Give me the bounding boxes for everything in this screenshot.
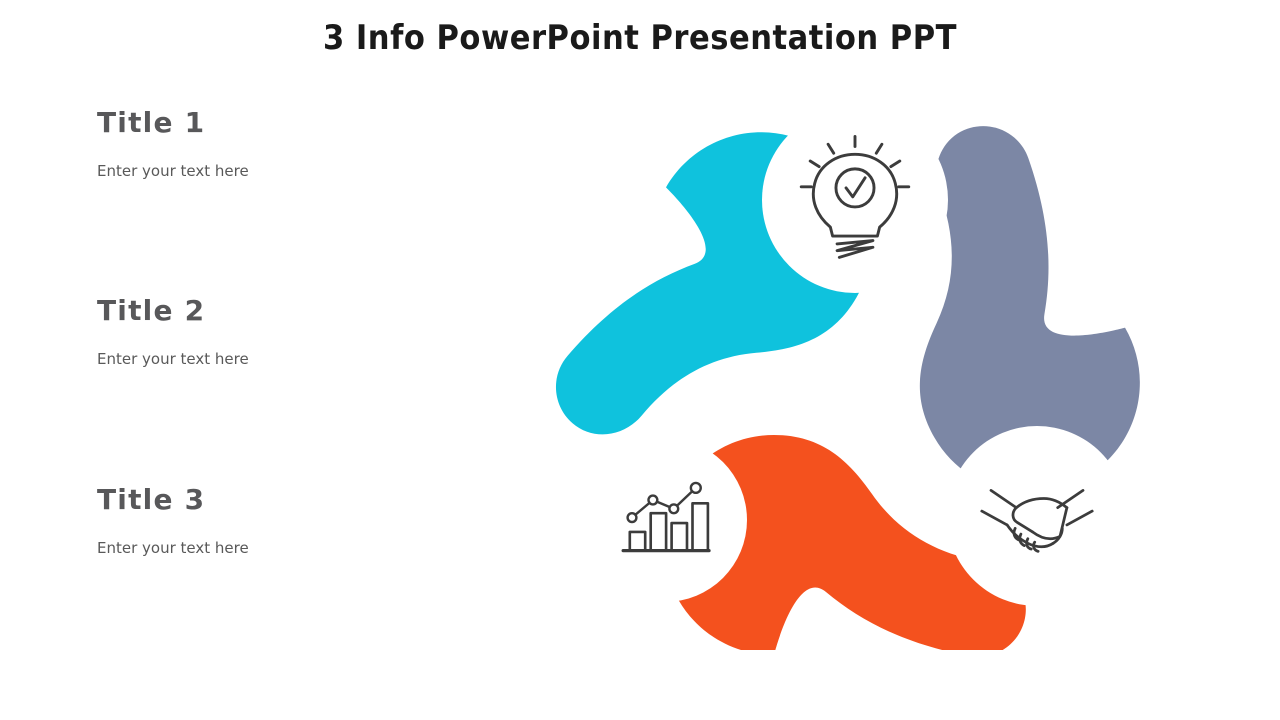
info-block-1-body: Enter your text here	[97, 139, 249, 180]
info-block-2: Title 2 Enter your text here	[97, 296, 249, 368]
info-block-2-title: Title 2	[97, 296, 249, 327]
page-title: 3 Info PowerPoint Presentation PPT	[0, 18, 1280, 58]
inner-circle-cyan	[947, 426, 1127, 606]
inner-circle-orange	[762, 107, 948, 293]
info-block-3-title: Title 3	[97, 485, 249, 516]
info-block-3: Title 3 Enter your text here	[97, 485, 249, 557]
info-block-1: Title 1 Enter your text here	[97, 108, 249, 180]
three-petal-pinwheel-diagram	[540, 70, 1180, 650]
presentation-slide: 3 Info PowerPoint Presentation PPT Title…	[0, 0, 1280, 720]
info-block-3-body: Enter your text here	[97, 516, 249, 557]
info-block-2-body: Enter your text here	[97, 327, 249, 368]
info-block-1-title: Title 1	[97, 108, 249, 139]
